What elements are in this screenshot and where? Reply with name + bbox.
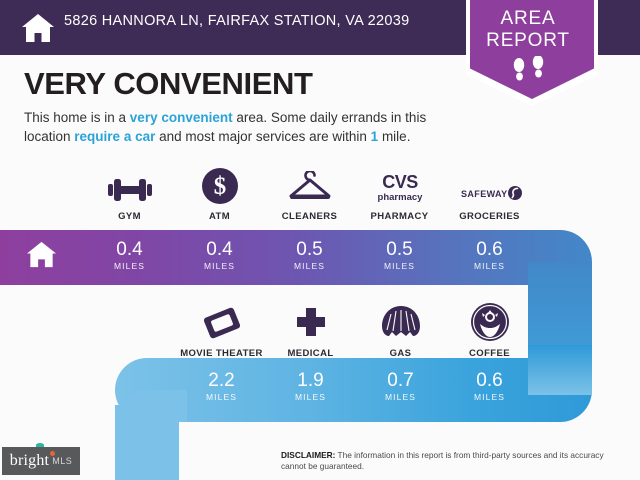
distance-unit: MILES	[265, 261, 354, 271]
svg-text:$: $	[213, 173, 226, 200]
distance-gym: 0.4 MILES	[85, 240, 174, 271]
service-atm: $ ATM	[175, 163, 264, 222]
service-pharmacy: CVS pharmacy PHARMACY	[355, 163, 444, 222]
svg-text:CVS: CVS	[382, 172, 418, 192]
bar-connector-upper	[528, 345, 592, 395]
medical-cross-icon	[266, 300, 355, 342]
badge-line-1: AREA	[466, 8, 590, 30]
bright-dot-icon	[50, 451, 55, 456]
distance-value: 2.2	[177, 371, 266, 391]
distance-gas: 0.7 MILES	[356, 371, 445, 402]
dollar-circle-icon: $	[175, 163, 264, 205]
badge-line-2: REPORT	[466, 30, 590, 52]
distance-value: 0.4	[175, 240, 264, 260]
safeway-logo-icon: SAFEWAY	[445, 163, 534, 205]
distance-value: 0.4	[85, 240, 174, 260]
distance-unit: MILES	[175, 261, 264, 271]
distance-value: 0.5	[355, 240, 444, 260]
service-medical: MEDICAL	[266, 300, 355, 359]
service-label: MEDICAL	[266, 348, 355, 359]
summary-highlight-car: require a car	[74, 129, 155, 144]
distance-value: 1.9	[266, 371, 355, 391]
service-label: MOVIE THEATER	[177, 348, 266, 359]
movie-ticket-icon	[177, 300, 266, 342]
summary-highlight-convenient: very convenient	[130, 110, 233, 125]
row-1-house-icon	[26, 239, 57, 270]
svg-text:pharmacy: pharmacy	[377, 192, 423, 203]
summary-part-4: mile.	[378, 129, 410, 144]
service-cleaners: CLEANERS	[265, 163, 354, 222]
house-icon	[20, 10, 56, 46]
bright-mls-logo: bright MLS	[2, 447, 80, 475]
svg-text:SAFEWAY: SAFEWAY	[461, 189, 507, 199]
distance-groceries: 0.6 MILES	[445, 240, 534, 271]
distance-value: 0.6	[445, 371, 534, 391]
hanger-icon	[265, 163, 354, 205]
distance-cleaners: 0.5 MILES	[265, 240, 354, 271]
service-label: GYM	[85, 211, 174, 222]
distance-coffee: 0.6 MILES	[445, 371, 534, 402]
footprints-icon	[509, 56, 551, 86]
summary-text: This home is in a very convenient area. …	[24, 108, 464, 146]
distance-unit: MILES	[177, 392, 266, 402]
mls-word: MLS	[52, 456, 72, 466]
distance-atm: 0.4 MILES	[175, 240, 264, 271]
distance-unit: MILES	[355, 261, 444, 271]
distance-value: 0.6	[445, 240, 534, 260]
service-label: CLEANERS	[265, 211, 354, 222]
service-label: GROCERIES	[445, 211, 534, 222]
dumbbell-icon	[85, 163, 174, 205]
distance-unit: MILES	[85, 261, 174, 271]
summary-part-1: This home is in a	[24, 110, 130, 125]
distance-unit: MILES	[445, 392, 534, 402]
service-label: ATM	[175, 211, 264, 222]
distance-unit: MILES	[266, 392, 355, 402]
area-report-badge: AREA REPORT	[466, 0, 598, 106]
distance-unit: MILES	[445, 261, 534, 271]
distance-medical: 1.9 MILES	[266, 371, 355, 402]
distance-value: 0.7	[356, 371, 445, 391]
service-coffee: COFFEE	[445, 300, 534, 359]
service-gym: GYM	[85, 163, 174, 222]
service-movie-theater: MOVIE THEATER	[177, 300, 266, 359]
cvs-pharmacy-logo-icon: CVS pharmacy	[355, 163, 444, 205]
shell-logo-icon	[356, 300, 445, 342]
distance-value: 0.5	[265, 240, 354, 260]
starbucks-logo-icon	[445, 300, 534, 342]
bright-tick-icon	[36, 443, 44, 447]
distance-movie-theater: 2.2 MILES	[177, 371, 266, 402]
header-address: 5826 HANNORA LN, FAIRFAX STATION, VA 220…	[64, 13, 409, 29]
summary-part-3: and most major services are within	[155, 129, 370, 144]
service-label: GAS	[356, 348, 445, 359]
service-label: COFFEE	[445, 348, 534, 359]
service-groceries: SAFEWAY GROCERIES	[445, 163, 534, 222]
disclaimer-label: DISCLAIMER:	[281, 450, 335, 460]
page-title: VERY CONVENIENT	[24, 66, 313, 102]
service-gas: GAS	[356, 300, 445, 359]
distance-pharmacy: 0.5 MILES	[355, 240, 444, 271]
disclaimer: DISCLAIMER: The information in this repo…	[281, 450, 623, 472]
distance-unit: MILES	[356, 392, 445, 402]
bright-word: bright	[10, 452, 49, 470]
service-label: PHARMACY	[355, 211, 444, 222]
